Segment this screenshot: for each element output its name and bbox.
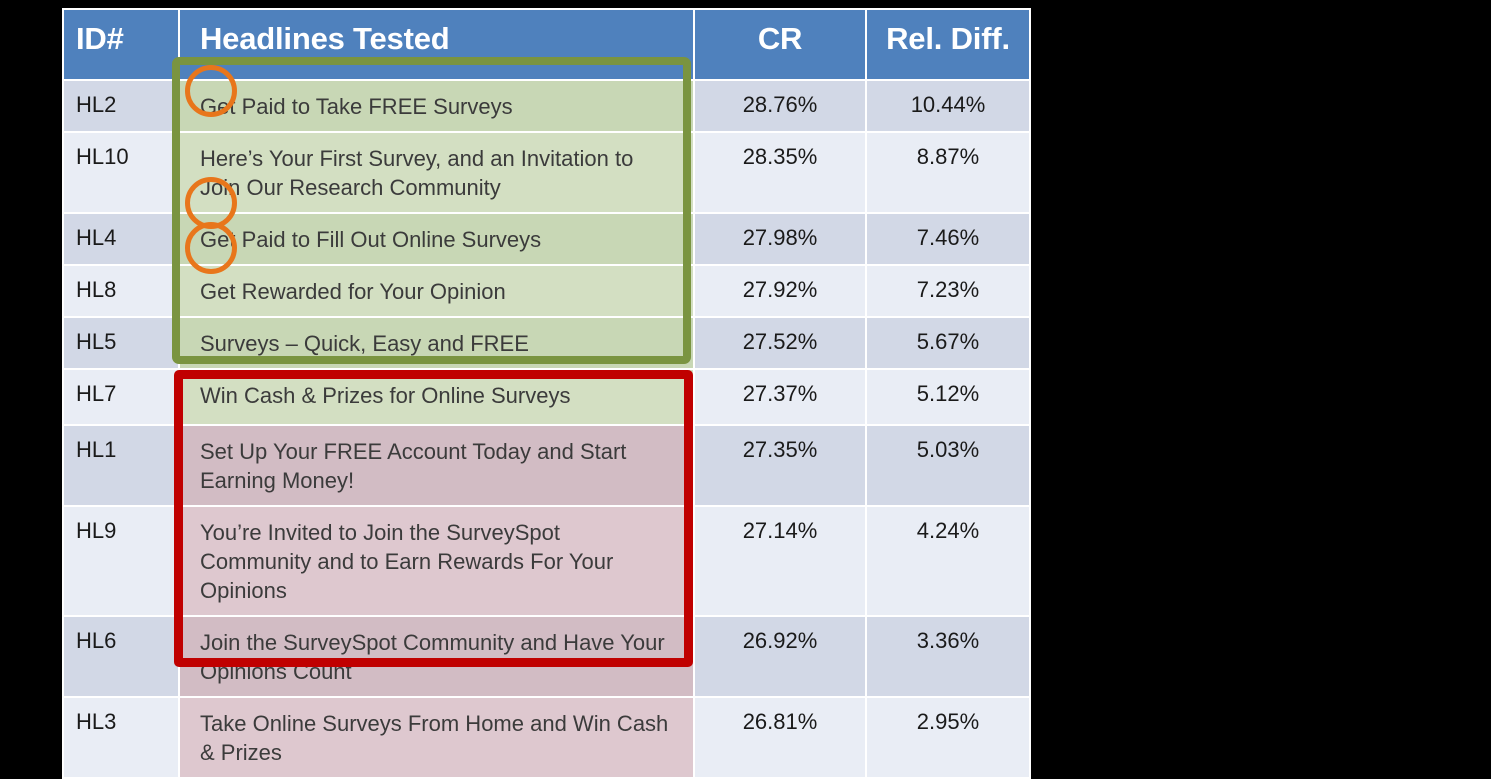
table-header: ID# Headlines Tested CR Rel. Diff. <box>64 10 1029 79</box>
table-row[interactable]: HL9You’re Invited to Join the SurveySpot… <box>64 507 1029 615</box>
cell-headline: Get Paid to Fill Out Online Surveys <box>180 214 693 264</box>
cell-id: HL7 <box>64 370 178 424</box>
cell-cr: 27.98% <box>695 214 865 264</box>
column-header-headline[interactable]: Headlines Tested <box>180 10 693 79</box>
cell-headline: Take Online Surveys From Home and Win Ca… <box>180 698 693 777</box>
cell-id: HL8 <box>64 266 178 316</box>
cell-headline: Win Cash & Prizes for Online Surveys <box>180 370 693 424</box>
cell-cr: 28.76% <box>695 81 865 131</box>
table-row[interactable]: HL5Surveys – Quick, Easy and FREE27.52%5… <box>64 318 1029 368</box>
cell-rel-diff: 2.95% <box>867 698 1029 777</box>
cell-cr: 27.92% <box>695 266 865 316</box>
table-row[interactable]: HL4Get Paid to Fill Out Online Surveys27… <box>64 214 1029 264</box>
table-body: HL2Get Paid to Take FREE Surveys28.76%10… <box>64 81 1029 777</box>
column-header-rel-diff[interactable]: Rel. Diff. <box>867 10 1029 79</box>
cell-rel-diff: 5.12% <box>867 370 1029 424</box>
cell-rel-diff: 3.36% <box>867 617 1029 696</box>
table-row[interactable]: HL6Join the SurveySpot Community and Hav… <box>64 617 1029 696</box>
cell-headline: Get Paid to Take FREE Surveys <box>180 81 693 131</box>
cell-id: HL4 <box>64 214 178 264</box>
cell-headline: Surveys – Quick, Easy and FREE <box>180 318 693 368</box>
cell-headline: Here’s Your First Survey, and an Invitat… <box>180 133 693 212</box>
table-row[interactable]: HL1Set Up Your FREE Account Today and St… <box>64 426 1029 505</box>
slide-canvas: ID# Headlines Tested CR Rel. Diff. HL2Ge… <box>0 0 1491 735</box>
cell-rel-diff: 8.87% <box>867 133 1029 212</box>
cell-cr: 27.52% <box>695 318 865 368</box>
cell-id: HL5 <box>64 318 178 368</box>
headline-test-results-table: ID# Headlines Tested CR Rel. Diff. HL2Ge… <box>62 8 1031 779</box>
table-row[interactable]: HL10Here’s Your First Survey, and an Inv… <box>64 133 1029 212</box>
cell-id: HL9 <box>64 507 178 615</box>
cell-rel-diff: 7.23% <box>867 266 1029 316</box>
table-row[interactable]: HL2Get Paid to Take FREE Surveys28.76%10… <box>64 81 1029 131</box>
table-row[interactable]: HL7Win Cash & Prizes for Online Surveys2… <box>64 370 1029 424</box>
cell-cr: 26.92% <box>695 617 865 696</box>
cell-headline: Set Up Your FREE Account Today and Start… <box>180 426 693 505</box>
cell-id: HL2 <box>64 81 178 131</box>
cell-id: HL6 <box>64 617 178 696</box>
cell-id: HL3 <box>64 698 178 777</box>
cell-cr: 27.35% <box>695 426 865 505</box>
cell-rel-diff: 5.67% <box>867 318 1029 368</box>
table-row[interactable]: HL3Take Online Surveys From Home and Win… <box>64 698 1029 777</box>
cell-id: HL1 <box>64 426 178 505</box>
cell-rel-diff: 10.44% <box>867 81 1029 131</box>
cell-headline: You’re Invited to Join the SurveySpot Co… <box>180 507 693 615</box>
column-header-cr[interactable]: CR <box>695 10 865 79</box>
cell-id: HL10 <box>64 133 178 212</box>
cell-cr: 27.37% <box>695 370 865 424</box>
cell-cr: 26.81% <box>695 698 865 777</box>
cell-rel-diff: 4.24% <box>867 507 1029 615</box>
cell-headline: Join the SurveySpot Community and Have Y… <box>180 617 693 696</box>
table-header-row: ID# Headlines Tested CR Rel. Diff. <box>64 10 1029 79</box>
cell-cr: 28.35% <box>695 133 865 212</box>
cell-cr: 27.14% <box>695 507 865 615</box>
cell-rel-diff: 5.03% <box>867 426 1029 505</box>
cell-headline: Get Rewarded for Your Opinion <box>180 266 693 316</box>
column-header-id[interactable]: ID# <box>64 10 178 79</box>
table-row[interactable]: HL8Get Rewarded for Your Opinion27.92%7.… <box>64 266 1029 316</box>
cell-rel-diff: 7.46% <box>867 214 1029 264</box>
